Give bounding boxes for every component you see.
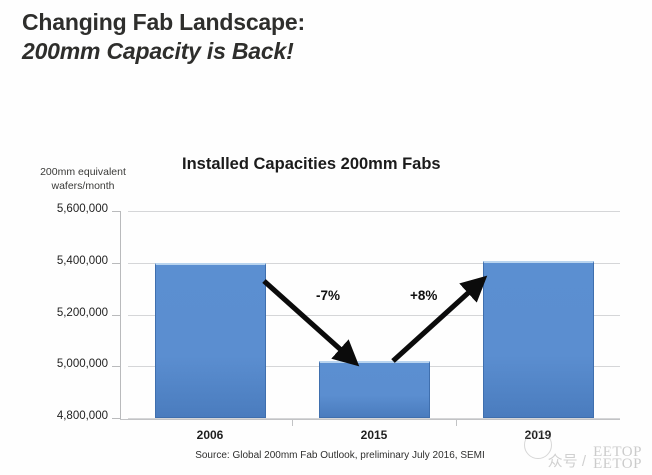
y-axis-tick-label: 5,400,000: [22, 255, 108, 267]
page-title-line-2: 200mm Capacity is Back!: [22, 36, 542, 66]
y-axis-tick: [112, 211, 121, 212]
source-note: Source: Global 200mm Fab Outlook, prelim…: [0, 450, 652, 461]
bar-2019: [483, 261, 594, 418]
y-axis-tick-labels: 4,800,0005,000,0005,200,0005,400,0005,60…: [14, 211, 108, 419]
annotation-label-plus8: +8%: [410, 288, 437, 303]
y-axis-tick: [112, 263, 121, 264]
y-axis-tick: [112, 315, 121, 316]
y-axis-tick-label: 5,000,000: [22, 358, 108, 370]
y-axis-tick: [112, 366, 121, 367]
y-axis-tick: [112, 418, 121, 419]
bar-2015: [319, 361, 430, 418]
chart-title: Installed Capacities 200mm Fabs: [182, 155, 582, 174]
gridline: [128, 211, 620, 212]
x-axis-line: [120, 419, 620, 420]
page-title: Changing Fab Landscape: 200mm Capacity i…: [22, 8, 542, 66]
bar-2006: [155, 263, 266, 418]
x-axis-separator: [456, 419, 457, 426]
y-axis-caption-line-1: 200mm equivalent: [28, 165, 138, 179]
x-axis-label-2006: 2006: [150, 428, 270, 442]
annotation-label-minus7: -7%: [316, 288, 340, 303]
x-axis-label-2019: 2019: [478, 428, 598, 442]
plot-area: [128, 211, 620, 418]
y-axis-tick-label: 4,800,000: [22, 410, 108, 422]
y-axis-tick-label: 5,600,000: [22, 203, 108, 215]
page-title-line-1: Changing Fab Landscape:: [22, 8, 542, 36]
y-axis-tick-label: 5,200,000: [22, 307, 108, 319]
chart-container: Installed Capacities 200mm Fabs 200mm eq…: [0, 140, 652, 475]
y-axis-caption-line-2: wafers/month: [28, 179, 138, 193]
x-axis-label-2015: 2015: [314, 428, 434, 442]
y-axis-caption: 200mm equivalent wafers/month: [28, 165, 138, 193]
x-axis-separator: [292, 419, 293, 426]
